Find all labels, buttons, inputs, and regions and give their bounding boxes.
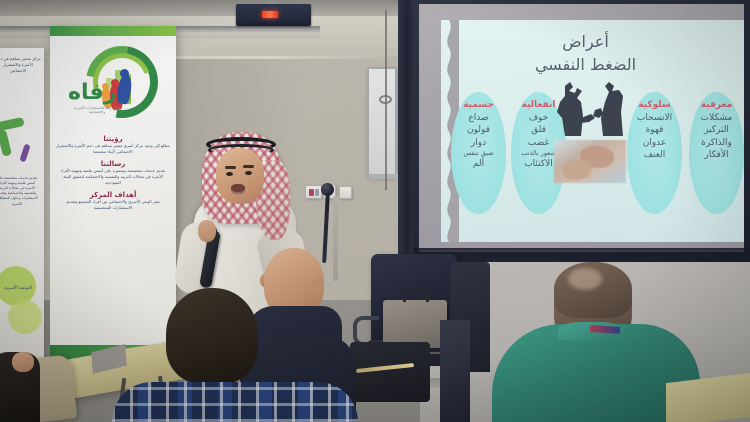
hand-shape — [562, 160, 592, 180]
floor-bag — [350, 342, 430, 402]
whiteboard-tray — [369, 174, 399, 179]
banner-secondary: مركز متميز يساهم في دعم الأسرة والاستقرا… — [0, 48, 44, 378]
category-oval-cognitive: معرفية مشكلات التركيز والذاكرة الأفكار — [689, 92, 744, 214]
banner-secondary-body: تقديم خدمات متخصصة على أسس علمية ومهنية … — [0, 176, 40, 207]
speaker-eye-right — [245, 171, 252, 175]
audience-head — [166, 288, 258, 384]
screen-surface: أعراض الضغط النفسي معرفية مشكلات التركيز… — [419, 4, 744, 252]
refah-logo: رفاه مركز رفاه للاستشارات الأسرية والاجت… — [66, 44, 162, 126]
speaker-brow-left — [225, 166, 236, 169]
socket-port-icon — [315, 189, 319, 196]
projector-screen: أعراض الضغط النفسي معرفية مشكلات التركيز… — [413, 0, 750, 262]
audience-scalp-highlight — [568, 268, 602, 290]
logo-figure-blue-head — [120, 69, 129, 78]
banner-section-body: تقديم خدمات متخصصة ومتميزة على أسس علمية… — [50, 168, 176, 186]
banner-secondary-footer: التوعية الأسرية — [0, 286, 40, 293]
screen-pull-ring-icon — [379, 95, 392, 104]
laptop-bag — [383, 300, 447, 348]
slide-title: أعراض الضغط النفسي — [441, 30, 730, 76]
wall-socket-3 — [339, 186, 352, 199]
speaker-igal-cord-2 — [208, 144, 274, 156]
ceiling — [0, 0, 450, 16]
category-items: مشكلات التركيز والذاكرة الأفكار — [689, 112, 744, 162]
air-conditioner-icon — [236, 4, 311, 26]
category-items: صداع قولون دوار ضيق تنفس ألم — [451, 112, 506, 170]
hands-photo — [554, 140, 626, 183]
logo-subtitle: مركز رفاه للاستشارات الأسرية والاجتماعية — [68, 106, 126, 114]
foreground-hand — [12, 352, 34, 372]
seat-base-right — [440, 320, 470, 422]
logo-wordmark: رفاه — [68, 80, 116, 105]
banner-top-stripe — [50, 26, 176, 36]
banner-text-sections: رؤيتنا نتطلع إلى وجود مركز أسري متميز يس… — [50, 130, 176, 211]
whiteboard — [367, 67, 397, 177]
door-frame — [398, 0, 414, 260]
banner-secondary-circle-2 — [8, 300, 42, 334]
ac-display — [262, 11, 278, 18]
category-oval-physical: جسمية صداع قولون دوار ضيق تنفس ألم — [451, 92, 506, 214]
slide-title-line1: أعراض — [441, 30, 730, 53]
banner-secondary-header: مركز متميز يساهم في دعم الأسرة والاستقرا… — [0, 56, 41, 73]
banner-secondary-shape-2 — [0, 129, 12, 156]
category-oval-behavioral: سلوكية الانسحاب قهوة عدوان العنف — [627, 92, 682, 214]
speaker-eye-left — [226, 172, 233, 176]
banner-secondary-shape-3 — [19, 144, 30, 163]
category-title: جسمية — [451, 101, 506, 111]
banner-section-body: نتطلع إلى وجود مركز أسري متميز يساهم في … — [50, 143, 176, 155]
banner-section-heading: رؤيتنا — [50, 135, 176, 143]
audience-member-plaid — [118, 288, 358, 422]
category-items: الانسحاب قهوة عدوان العنف — [627, 112, 682, 162]
banner-section-heading: أهداف المركز — [50, 191, 176, 199]
bag-handle-icon — [403, 287, 429, 302]
banner-section-heading: رسالتنا — [50, 160, 176, 168]
category-title: سلوكية — [627, 101, 682, 111]
category-title: معرفية — [689, 101, 744, 111]
slide-artwork — [551, 78, 627, 183]
speaker-face — [216, 148, 264, 204]
photo-scene: أعراض الضغط النفسي معرفية مشكلات التركيز… — [0, 0, 750, 422]
floor-bag-strap — [356, 363, 414, 373]
speaker-hand-left — [198, 220, 216, 242]
plaid-shirt — [112, 382, 358, 422]
slide-title-line2: الضغط النفسي — [441, 53, 730, 76]
presentation-slide: أعراض الضغط النفسي معرفية مشكلات التركيز… — [441, 20, 744, 242]
arguing-silhouettes-icon — [551, 78, 627, 140]
speaker-brow-right — [243, 165, 254, 168]
speaker-mouth — [231, 184, 245, 194]
banner-section-body: نشر الوعي الأسري والاجتماعي بين أفراد ال… — [50, 199, 176, 211]
ac-sensor-icon — [269, 1, 274, 4]
